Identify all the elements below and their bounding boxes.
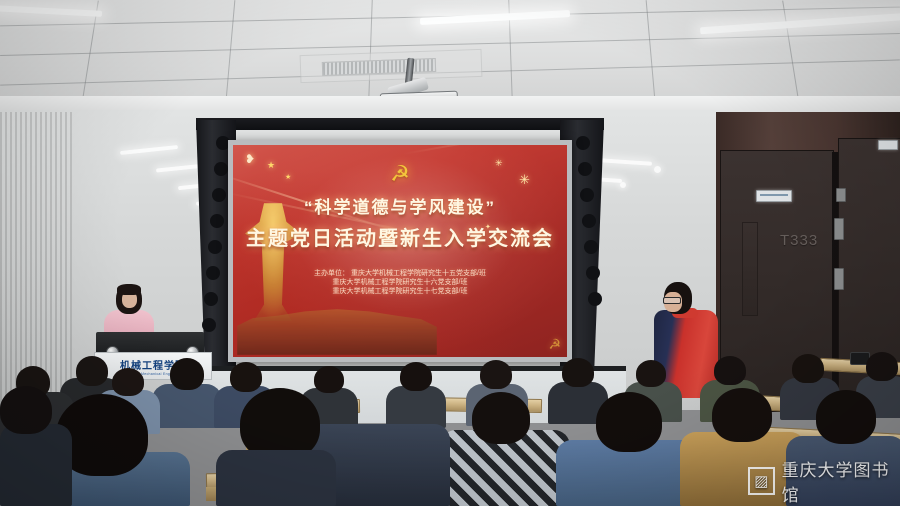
exit-sign	[756, 190, 792, 202]
audience-shoulders	[152, 384, 222, 428]
ceiling	[0, 0, 900, 118]
audience-head	[76, 356, 108, 386]
audience-head	[400, 362, 432, 391]
audience-head	[112, 368, 144, 396]
slide-subtitle-line: 重庆大学机械工程学院研究生十七党支部/班	[233, 287, 567, 296]
audience-shoulders-foreground	[216, 450, 336, 506]
audience-head	[866, 352, 898, 381]
firework-sparkle: ✳	[519, 175, 530, 184]
star-decoration: ★	[285, 173, 291, 182]
audience-head-foreground	[816, 390, 876, 444]
slide-title-line-2: 主题党日活动暨新生入学交流会	[233, 222, 567, 251]
audience-head	[314, 366, 344, 393]
watermark: ▨ 重庆大学图书馆	[748, 456, 900, 506]
audience-head-foreground	[472, 392, 530, 444]
room-number-label: T333	[780, 232, 818, 249]
audience-shoulders-foreground	[0, 424, 72, 506]
eyeglasses-icon	[663, 297, 681, 304]
audience-head	[636, 360, 666, 387]
audience-head	[714, 356, 746, 385]
slide-title-line-1: “科学道德与学风建设”	[233, 193, 567, 218]
door-indicator-light	[878, 140, 898, 150]
audience-head-foreground	[0, 386, 52, 434]
audience-head	[480, 360, 512, 389]
star-decoration: ★	[267, 161, 275, 170]
projected-slide: ✳ ✳ ✦ ✦ ★ ★ ❥ ☭ “科学道德与学风建设” 主题党日活动暨新生入学交…	[233, 145, 567, 357]
lecture-hall-photo: T333 ✳ ✳ ✦ ✦ ★ ★ ❥ ☭ “科学道德与学风建	[0, 0, 900, 506]
projection-screen-frame: ✳ ✳ ✦ ✦ ★ ★ ❥ ☭ “科学道德与学风建设” 主题党日活动暨新生入学交…	[228, 140, 572, 362]
audience-head	[792, 354, 824, 383]
watermark-text: 重庆大学图书馆	[782, 456, 900, 506]
audience-head	[170, 358, 204, 390]
library-logo-icon: ▨	[748, 467, 775, 495]
slide-subtitle-line: 主办单位： 重庆大学机械工程学院研究生十五党支部/班	[233, 269, 567, 278]
audience-head-foreground	[596, 392, 662, 452]
audience-head-foreground	[712, 388, 772, 442]
party-emblem-corner-icon: ☭	[548, 336, 561, 353]
audience-head	[230, 362, 262, 392]
door-hinge	[834, 218, 844, 240]
curtain-valance	[196, 118, 604, 130]
firework-sparkle: ✳	[495, 159, 503, 168]
slide-title: “科学道德与学风建设” 主题党日活动暨新生入学交流会	[233, 193, 567, 251]
wall-light-spot	[654, 166, 661, 173]
audience-head	[562, 358, 594, 387]
dove-decoration: ❥	[245, 155, 255, 164]
party-emblem-icon: ☭	[390, 161, 410, 187]
door-hinge	[834, 268, 844, 290]
slide-subtitle-block: 主办单位： 重庆大学机械工程学院研究生十五党支部/班 重庆大学机械工程学院研究生…	[233, 269, 567, 296]
slide-subtitle-line: 重庆大学机械工程学院研究生十六党支部/班	[233, 278, 567, 287]
wall-light-spot	[620, 182, 626, 188]
audience-shoulders	[386, 386, 446, 428]
presenter-fringe	[117, 284, 141, 295]
door-inset	[742, 222, 758, 316]
door-hinge	[836, 188, 846, 202]
